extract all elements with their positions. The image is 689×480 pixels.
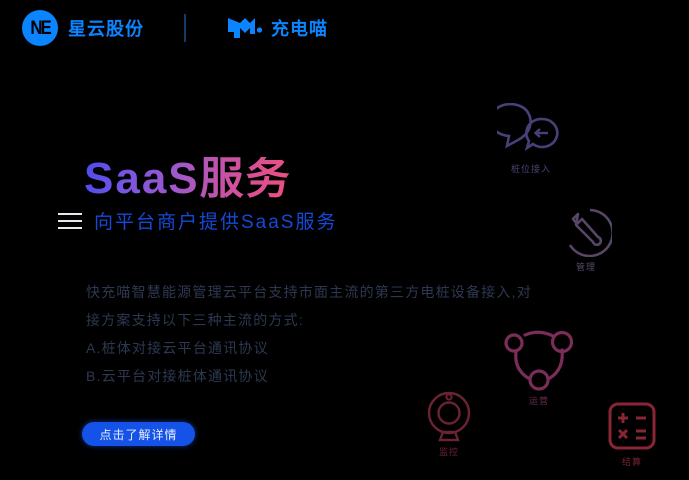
feature-network-label: 运营 xyxy=(529,394,549,407)
ne-logo-glyph: NE xyxy=(30,19,50,38)
cat-face-logo-icon xyxy=(226,16,264,40)
feature-chat-access: 桩位接入 xyxy=(497,103,565,175)
brand-left[interactable]: NE 星云股份 xyxy=(22,10,144,46)
three-lines-icon xyxy=(58,213,82,229)
brand-right[interactable]: 充电喵 xyxy=(226,15,328,41)
page-header: NE 星云股份 充电喵 xyxy=(0,0,689,56)
feature-chat-access-label: 桩位接入 xyxy=(511,162,551,175)
feature-settlement: 结算 xyxy=(606,400,658,468)
feature-monitor-label: 监控 xyxy=(439,445,459,458)
feature-settlement-label: 结算 xyxy=(622,455,642,468)
page-title: SaaS服务 xyxy=(84,157,292,201)
brand-left-name: 星云股份 xyxy=(68,15,144,41)
feature-monitor: 监控 xyxy=(425,390,473,458)
wrench-tool-icon xyxy=(560,207,612,257)
monitor-lamp-icon xyxy=(425,390,473,442)
chat-bubbles-arrow-icon xyxy=(497,103,565,159)
brand-divider xyxy=(184,14,186,42)
brand-right-name: 充电喵 xyxy=(271,15,328,41)
calculator-icon xyxy=(606,400,658,452)
hero-subtitle-row: 向平台商户提供SaaS服务 xyxy=(58,207,337,234)
feature-management-label: 管理 xyxy=(576,260,596,273)
body-line-1: 快充喵智慧能源管理云平台支持市面主流的第三方电桩设备接入,对 xyxy=(86,278,586,306)
network-nodes-icon xyxy=(500,325,578,391)
hero-subtitle: 向平台商户提供SaaS服务 xyxy=(94,207,337,234)
feature-management: 管理 xyxy=(560,207,612,273)
ne-circle-logo-icon: NE xyxy=(22,10,58,46)
learn-more-button[interactable]: 点击了解详情 xyxy=(82,422,195,446)
feature-network: 运营 xyxy=(500,325,578,407)
